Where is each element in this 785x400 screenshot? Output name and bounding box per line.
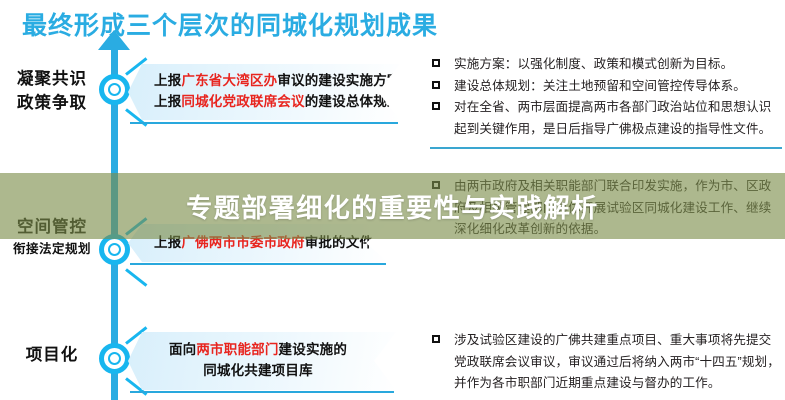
bullet-list-1: 实施方案：以强化制度、政策和模式创新为目标。 建设总体规划：关注土地预留和空间管… [432,54,780,141]
overlay-banner-text: 专题部署细化的重要性与实践解析 [0,173,785,239]
list-item: 实施方案：以强化制度、政策和模式创新为目标。 [432,54,780,76]
plain-text: 上报 [154,73,181,88]
level-card-1[interactable]: 上报广东省大湾区办审议的建设实施方案 上报同城化党政联席会议的建设总体规划纲要 [128,64,400,120]
bullet-list-3: 涉及试验区建设的广佛共建重点项目、重大事项将先提交党政联席会议审议，审议通过后将… [432,330,780,395]
square-bullet-icon [432,81,440,89]
plain-text: 建设实施的 [279,342,348,357]
list-item: 涉及试验区建设的广佛共建重点项目、重大事项将先提交党政联席会议审议，审议通过后将… [432,330,780,395]
card-underline-2 [130,263,386,265]
card-line: 上报同城化党政联席会议的建设总体规划纲要 [154,92,366,113]
highlighted-text: 广东省大湾区办 [181,73,277,88]
plain-text: 审议的建设实施方案 [277,73,400,88]
square-bullet-icon [432,59,440,67]
level-card-3[interactable]: 面向两市职能部门建设实施的 同城化共建项目库 [128,332,396,390]
card-underline-3 [130,391,394,393]
plain-text: 同城化共建项目库 [203,363,313,378]
node-spoke-2b [125,268,147,286]
card-line: 面向两市职能部门建设实施的 [169,340,347,361]
plain-text: 的建设总体规划纲要 [305,94,428,109]
page-title: 最终形成三个层次的同城化规划成果 [22,6,438,42]
list-item: 对在全省、两市层面提高两市各部门政治站位和思想认识起到关键作用，是日后指导广佛极… [432,97,780,140]
highlighted-text: 同城化党政联席会议 [181,94,304,109]
list-item: 建设总体规划：关注土地预留和空间管控传导体系。 [432,76,780,98]
square-bullet-icon [432,102,440,110]
plain-text: 上报 [154,94,181,109]
card-underline-1 [130,122,398,124]
slide-canvas: 最终形成三个层次的同城化规划成果 凝聚共识 政策争取 上报广东省大湾区办审议的建… [0,0,785,400]
highlighted-text: 两市职能部门 [196,342,278,357]
plain-text: 面向 [169,342,196,357]
section-divider-1 [430,147,782,149]
level-label-1: 凝聚共识 政策争取 [0,68,104,116]
square-bullet-icon [432,335,440,343]
card-line: 上报广东省大湾区办审议的建设实施方案 [154,71,366,92]
level-label-3: 项目化 [0,344,104,368]
card-line: 同城化共建项目库 [203,361,313,382]
